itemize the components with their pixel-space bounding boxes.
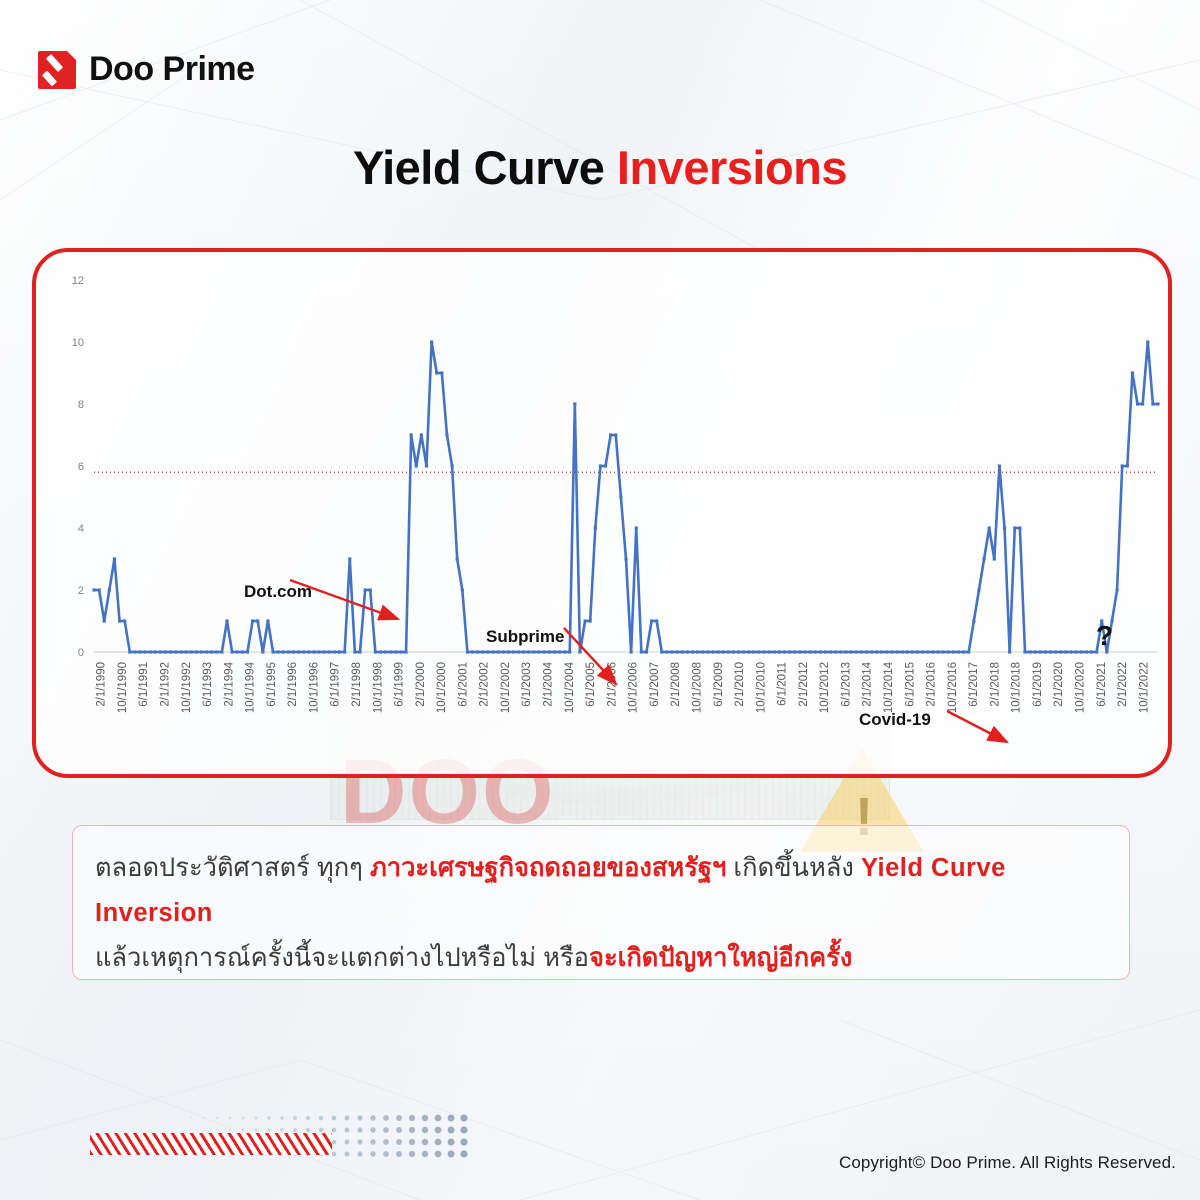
annotation-label-subprime: Subprime [486, 627, 564, 647]
svg-text:8: 8 [78, 399, 84, 411]
series-line [94, 342, 1158, 652]
svg-text:10/1/2008: 10/1/2008 [692, 662, 704, 713]
svg-text:10/1/2016: 10/1/2016 [947, 662, 959, 713]
chart-panel: 024681012 2/1/199010/1/19906/1/19912/1/1… [32, 248, 1172, 778]
svg-text:12: 12 [72, 275, 84, 287]
svg-text:6/1/2017: 6/1/2017 [968, 662, 980, 707]
svg-text:6/1/2019: 6/1/2019 [1032, 662, 1044, 707]
svg-text:10/1/1998: 10/1/1998 [372, 662, 384, 713]
svg-text:10: 10 [72, 337, 84, 349]
svg-text:10/1/2004: 10/1/2004 [564, 661, 576, 713]
svg-text:2/1/2000: 2/1/2000 [415, 662, 427, 707]
caption-text-1d: Yield Curve [861, 854, 1006, 882]
svg-text:2/1/2004: 2/1/2004 [543, 661, 555, 706]
svg-text:2/1/1992: 2/1/1992 [160, 662, 172, 707]
yield-curve-inversions-chart: 024681012 2/1/199010/1/19906/1/19912/1/1… [36, 252, 1168, 774]
caption-box: ตลอดประวัติศาสตร์ ทุกๆ ภาวะเศรษฐกิจถดถอย… [72, 825, 1130, 980]
decorative-stripe-bar [90, 1133, 332, 1155]
svg-text:10/1/1990: 10/1/1990 [117, 662, 129, 713]
svg-text:2/1/1990: 2/1/1990 [96, 662, 108, 707]
svg-text:2/1/1996: 2/1/1996 [287, 662, 299, 707]
svg-text:2/1/2006: 2/1/2006 [606, 662, 618, 707]
svg-text:2/1/2014: 2/1/2014 [862, 661, 874, 706]
annotation-label-dotcom: Dot.com [244, 582, 312, 602]
svg-text:2/1/2016: 2/1/2016 [926, 662, 938, 707]
svg-text:2/1/2018: 2/1/2018 [989, 662, 1001, 707]
page-title: Yield Curve Inversions [0, 140, 1200, 195]
svg-text:6/1/2011: 6/1/2011 [777, 662, 789, 706]
svg-text:0: 0 [78, 647, 84, 659]
y-axis-tick-labels: 024681012 [72, 275, 84, 659]
svg-text:10/1/1992: 10/1/1992 [181, 662, 193, 713]
brand-logo-text: Doo Prime [89, 50, 255, 89]
svg-text:10/1/1994: 10/1/1994 [245, 661, 257, 713]
svg-text:6/1/1997: 6/1/1997 [330, 662, 342, 707]
svg-text:6/1/2007: 6/1/2007 [649, 662, 661, 707]
svg-text:6/1/1995: 6/1/1995 [266, 662, 278, 707]
caption-text-3a: แล้วเหตุการณ์ครั้งนี้จะแตกต่างไปหรือไม่ … [95, 944, 589, 972]
svg-text:2/1/1994: 2/1/1994 [223, 661, 235, 706]
page-title-primary: Yield Curve [353, 141, 604, 194]
annotation-label-question: ? [1096, 620, 1113, 652]
svg-text:10/1/2010: 10/1/2010 [755, 662, 767, 713]
svg-text:6/1/1991: 6/1/1991 [138, 662, 150, 707]
annotation-label-covid: Covid-19 [859, 710, 931, 730]
svg-text:10/1/2006: 10/1/2006 [628, 662, 640, 713]
svg-text:10/1/2018: 10/1/2018 [1011, 662, 1023, 713]
svg-text:6/1/2005: 6/1/2005 [585, 662, 597, 707]
svg-text:2/1/2012: 2/1/2012 [798, 662, 810, 707]
svg-text:2/1/2010: 2/1/2010 [734, 662, 746, 707]
svg-text:10/1/2012: 10/1/2012 [819, 662, 831, 713]
svg-text:6/1/2001: 6/1/2001 [457, 662, 469, 707]
caption-line-3: แล้วเหตุการณ์ครั้งนี้จะแตกต่างไปหรือไม่ … [95, 936, 1107, 981]
caption-text-1a: ตลอดประวัติศาสตร์ ทุกๆ [95, 854, 370, 882]
svg-text:2: 2 [78, 585, 84, 597]
svg-text:10/1/1996: 10/1/1996 [308, 662, 320, 713]
footer-copyright: Copyright© Doo Prime. All Rights Reserve… [839, 1153, 1176, 1173]
svg-text:6: 6 [78, 461, 84, 473]
svg-text:6/1/2021: 6/1/2021 [1096, 662, 1108, 707]
svg-text:10/1/2014: 10/1/2014 [883, 661, 895, 713]
svg-text:2/1/2008: 2/1/2008 [670, 662, 682, 707]
svg-text:2/1/2020: 2/1/2020 [1053, 662, 1065, 707]
caption-line-2: Inversion [95, 891, 1107, 936]
svg-text:10/1/2022: 10/1/2022 [1138, 662, 1150, 713]
x-axis-tick-labels: 2/1/199010/1/19906/1/19912/1/199210/1/19… [96, 661, 1151, 713]
chart-area: 024681012 2/1/199010/1/19906/1/19912/1/1… [36, 252, 1168, 774]
series-markers [92, 340, 1159, 653]
caption-text-3b: จะเกิดปัญหาใหญ่อีกครั้ง [589, 944, 852, 972]
caption-line-1: ตลอดประวัติศาสตร์ ทุกๆ ภาวะเศรษฐกิจถดถอย… [95, 846, 1107, 891]
svg-text:4: 4 [78, 523, 84, 535]
svg-text:6/1/2009: 6/1/2009 [713, 662, 725, 707]
caption-text-2a: Inversion [95, 899, 213, 927]
svg-text:2/1/2002: 2/1/2002 [479, 662, 491, 707]
caption-text-1b: ภาวะเศรษฐกิจถดถอยของสหรัฐฯ [370, 854, 726, 882]
svg-text:10/1/2020: 10/1/2020 [1075, 662, 1087, 713]
svg-text:6/1/2003: 6/1/2003 [521, 662, 533, 707]
caption-text-1c: เกิดขึ้นหลัง [726, 854, 861, 882]
svg-text:6/1/1993: 6/1/1993 [202, 662, 214, 707]
svg-text:2/1/1998: 2/1/1998 [351, 662, 363, 707]
svg-text:2/1/2022: 2/1/2022 [1117, 662, 1129, 707]
brand-logo: Doo Prime [38, 50, 255, 89]
svg-text:10/1/2002: 10/1/2002 [500, 662, 512, 713]
doo-prime-mark-icon [38, 51, 76, 89]
page-title-accent: Inversions [617, 141, 847, 194]
svg-text:6/1/2013: 6/1/2013 [840, 662, 852, 707]
svg-text:10/1/2000: 10/1/2000 [436, 662, 448, 713]
svg-text:6/1/1999: 6/1/1999 [394, 662, 406, 707]
svg-text:6/1/2015: 6/1/2015 [904, 662, 916, 707]
